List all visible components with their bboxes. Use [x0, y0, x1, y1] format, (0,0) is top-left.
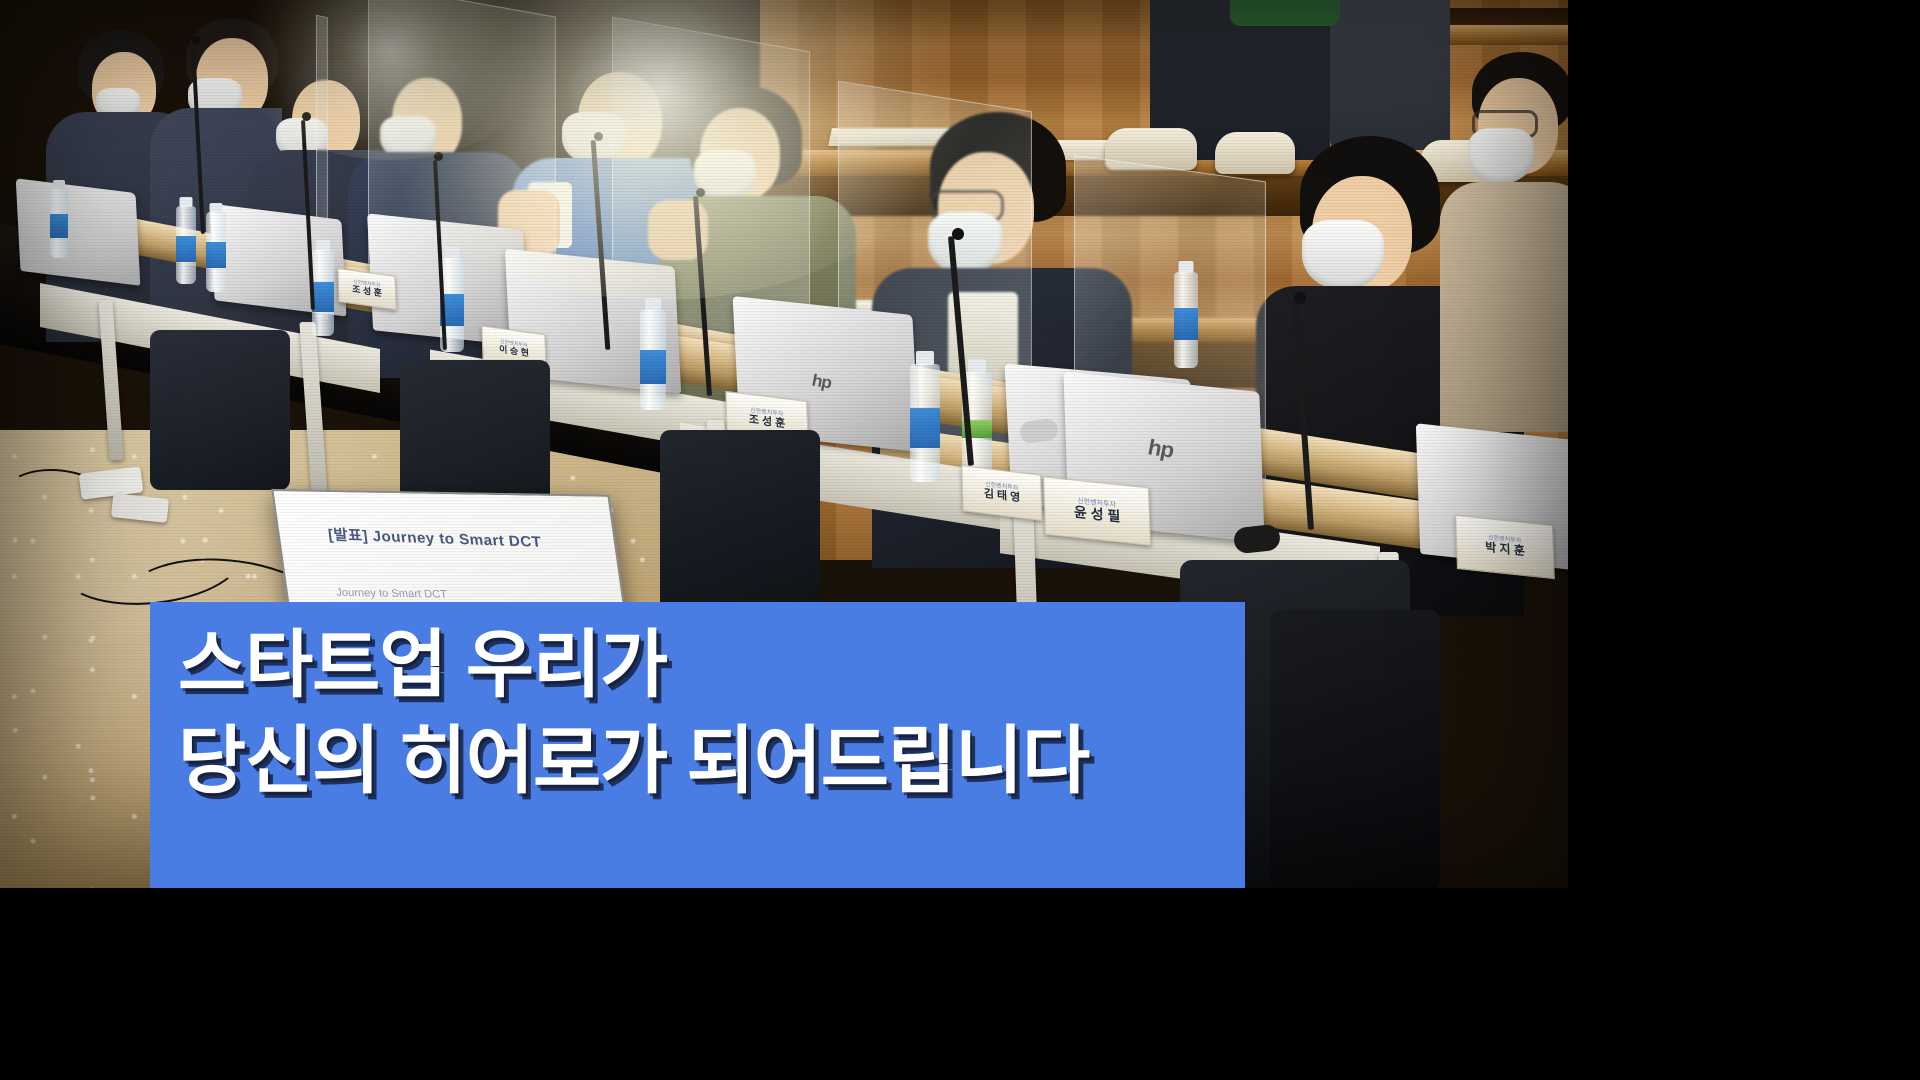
seated-person-top — [1230, 0, 1340, 26]
video-frame: hp hp hp — [0, 0, 1920, 1080]
sneaker — [1215, 132, 1295, 174]
hp-logo: hp — [812, 371, 831, 394]
water-bottle[interactable] — [206, 212, 226, 292]
water-bottle[interactable] — [910, 364, 940, 482]
water-bottle[interactable] — [176, 206, 196, 284]
name-placard: 신한벤처투자 박 지 훈 — [1455, 515, 1555, 580]
microphone-head — [696, 188, 705, 197]
placard-name: 박 지 훈 — [1485, 541, 1525, 558]
seated-person-legs — [1330, 0, 1450, 150]
placard-name: 윤 성 필 — [1074, 504, 1121, 524]
placard-name: 이 승 현 — [499, 344, 529, 358]
microphone-head — [192, 36, 201, 45]
water-bottle[interactable] — [50, 188, 68, 258]
board-subtitle: Journey to Smart DCT — [335, 587, 447, 601]
microphone-head — [302, 112, 311, 121]
name-placard: 신한벤처투자 윤 성 필 — [1043, 476, 1151, 545]
microphone-head — [952, 228, 964, 240]
board-title: [발표] Journey to Smart DCT — [327, 524, 543, 552]
caption-line-1: 스타트업 우리가 — [178, 620, 1245, 710]
water-bottle[interactable] — [640, 310, 666, 410]
caption-line-2: 당신의 히어로가 되어드립니다 — [178, 716, 1245, 806]
water-bottle[interactable] — [312, 250, 334, 336]
microphone-head — [1294, 292, 1306, 304]
caption-banner: 스타트업 우리가 당신의 히어로가 되어드립니다 — [150, 602, 1245, 888]
microphone-head — [594, 132, 603, 141]
chair — [1270, 610, 1440, 888]
chair — [150, 330, 290, 490]
placard-name: 조 성 훈 — [352, 284, 382, 298]
hp-logo: hp — [1148, 434, 1173, 463]
water-bottle[interactable] — [1174, 272, 1198, 368]
microphone-head — [434, 152, 443, 161]
